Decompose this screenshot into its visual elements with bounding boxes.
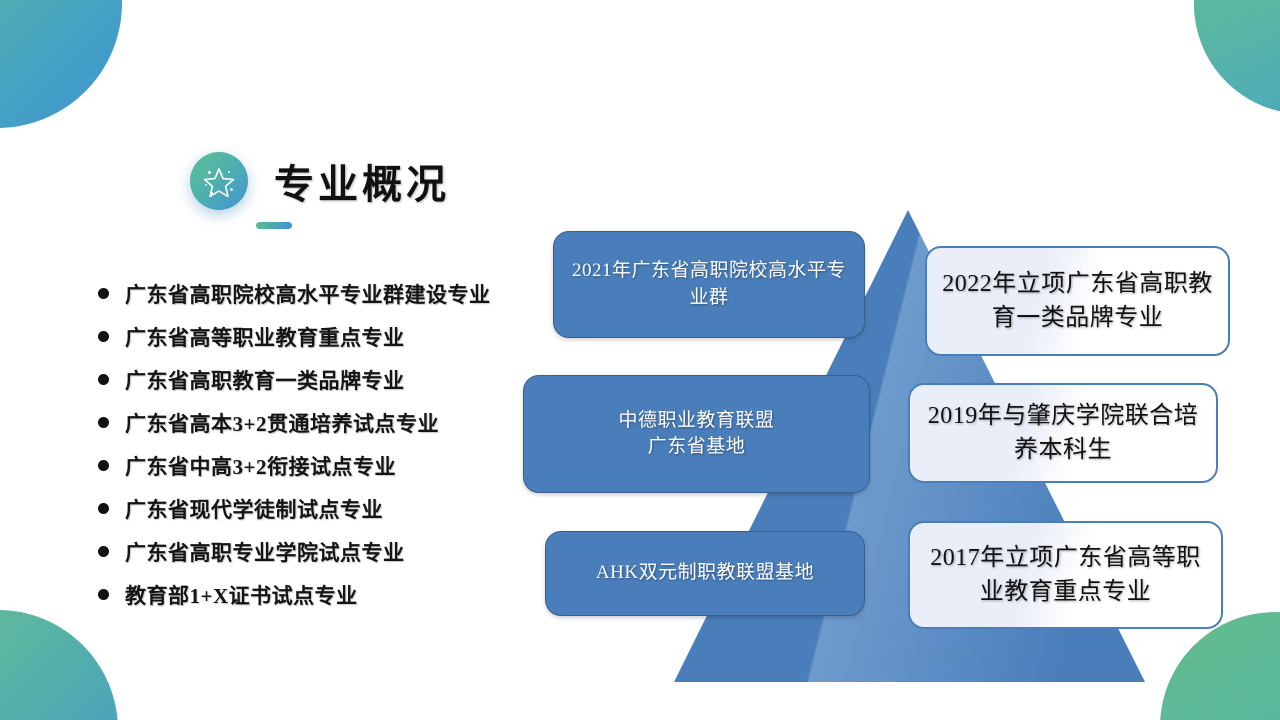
bullet-dot-icon [98, 331, 109, 342]
list-item-label: 广东省中高3+2衔接试点专业 [125, 451, 396, 481]
page-title: 专业概况 [274, 152, 450, 210]
list-item: 广东省高职教育一类品牌专业 [98, 358, 568, 401]
bullet-dot-icon [98, 546, 109, 557]
feature-bullet-list: 广东省高职院校高水平专业群建设专业 广东省高等职业教育重点专业 广东省高职教育一… [98, 272, 568, 616]
list-item: 广东省高职专业学院试点专业 [98, 530, 568, 573]
list-item-label: 教育部1+X证书试点专业 [125, 580, 358, 610]
pyramid-card-left-3[interactable]: AHK双元制职教联盟基地 [545, 531, 865, 616]
pyramid-card-left-3-label: AHK双元制职教联盟基地 [596, 560, 814, 586]
bullet-dot-icon [98, 503, 109, 514]
bullet-dot-icon [98, 374, 109, 385]
list-item: 广东省高等职业教育重点专业 [98, 315, 568, 358]
pyramid-card-right-1-label: 2022年立项广东省高职教育一类品牌专业 [941, 267, 1214, 335]
pyramid-card-right-1[interactable]: 2022年立项广东省高职教育一类品牌专业 [925, 246, 1230, 356]
list-item: 广东省高职院校高水平专业群建设专业 [98, 272, 568, 315]
bullet-dot-icon [98, 417, 109, 428]
decorative-circle-top-right [1194, 0, 1280, 114]
list-item-label: 广东省高职专业学院试点专业 [125, 537, 405, 567]
pyramid-card-right-3-label: 2017年立项广东省高等职业教育重点专业 [924, 541, 1207, 609]
list-item: 广东省高本3+2贯通培养试点专业 [98, 401, 568, 444]
page-title-group: 专业概况 [190, 152, 450, 210]
decorative-circle-top-left [0, 0, 122, 128]
list-item: 广东省现代学徒制试点专业 [98, 487, 568, 530]
list-item-label: 广东省高本3+2贯通培养试点专业 [125, 408, 439, 438]
bullet-dot-icon [98, 460, 109, 471]
pyramid-card-right-3[interactable]: 2017年立项广东省高等职业教育重点专业 [908, 521, 1223, 629]
pyramid-card-right-2[interactable]: 2019年与肇庆学院联合培养本科生 [908, 383, 1218, 483]
slide-canvas: 专业概况 广东省高职院校高水平专业群建设专业 广东省高等职业教育重点专业 广东省… [0, 0, 1280, 720]
bullet-dot-icon [98, 288, 109, 299]
list-item: 广东省中高3+2衔接试点专业 [98, 444, 568, 487]
star-sparkle-icon [190, 152, 248, 210]
decorative-circle-bottom-left [0, 610, 118, 720]
pyramid-card-left-2[interactable]: 中德职业教育联盟 广东省基地 [523, 375, 870, 493]
list-item-label: 广东省高等职业教育重点专业 [125, 322, 405, 352]
list-item: 教育部1+X证书试点专业 [98, 573, 568, 616]
list-item-label: 广东省高职院校高水平专业群建设专业 [125, 279, 491, 309]
bullet-dot-icon [98, 589, 109, 600]
pyramid-card-left-1[interactable]: 2021年广东省高职院校高水平专业群 [553, 231, 865, 338]
pyramid-card-right-2-label: 2019年与肇庆学院联合培养本科生 [924, 399, 1202, 467]
list-item-label: 广东省高职教育一类品牌专业 [125, 365, 405, 395]
title-underline [256, 222, 292, 229]
pyramid-card-left-2-label: 中德职业教育联盟 广东省基地 [618, 408, 774, 460]
list-item-label: 广东省现代学徒制试点专业 [125, 494, 383, 524]
pyramid-card-left-1-label: 2021年广东省高职院校高水平专业群 [568, 258, 850, 310]
